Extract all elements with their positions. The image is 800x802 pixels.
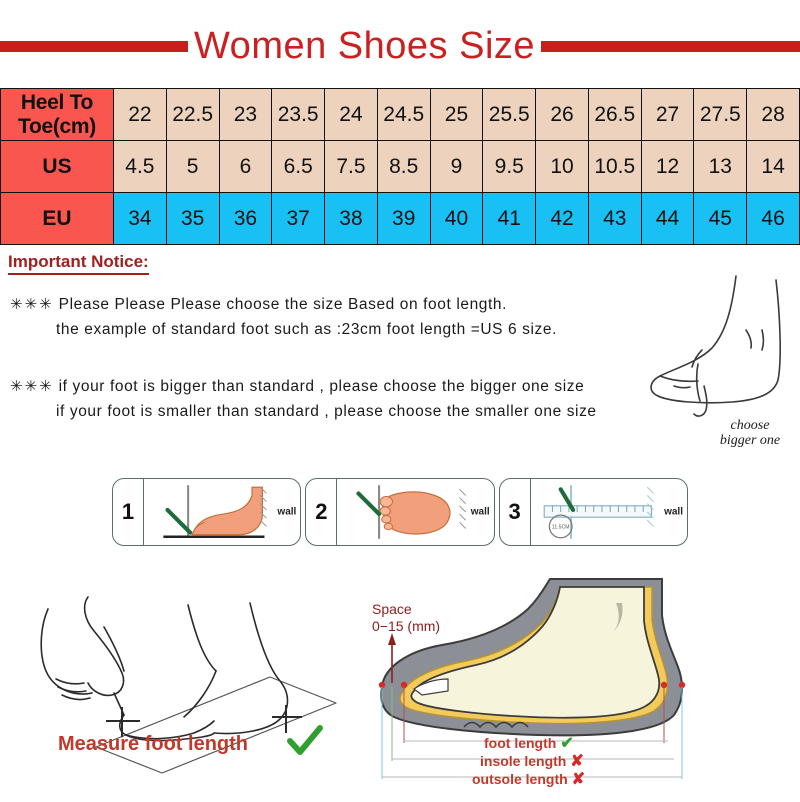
check-icon [286,725,324,759]
cell-value: 26.5 [589,104,641,125]
table-cell: 9.5 [483,141,536,193]
table-cell: 26 [536,89,589,141]
check-icon: ✔ [556,735,573,752]
step-number: 1 [113,479,144,545]
cell-value: 5 [167,156,219,177]
table-cell: 34 [114,193,167,245]
step-3-illustration: 11.5CM wall [531,479,687,545]
wall-label: wall [664,507,683,518]
table-cell: 25.5 [483,89,536,141]
table-cell: 7.5 [325,141,378,193]
cell-value: 41 [483,208,535,229]
measure-foot-panel: Measure foot length [18,575,370,797]
table-cell: 24.5 [377,89,430,141]
cell-value: 14 [747,156,799,177]
step-3: 3 11.5CM [499,478,688,546]
choose-bigger-line2: bigger one [700,433,800,448]
cell-value: 23 [220,104,272,125]
cell-value: 12 [642,156,694,177]
table-cell: 41 [483,193,536,245]
row-header-eu: EU [1,193,114,245]
table-cell: 44 [641,193,694,245]
notice-stars: ✳✳✳ [10,378,54,395]
table-cell: 23 [219,89,272,141]
row-header-us: US [1,141,114,193]
cell-value: 22.5 [167,104,219,125]
table-cell: 43 [588,193,641,245]
legend-label: foot length [484,735,556,751]
table-cell: 45 [694,193,747,245]
table-cell: 13 [694,141,747,193]
table-cell: 22.5 [166,89,219,141]
notice-heading: Important Notice: [8,252,149,275]
wall-label: wall [471,507,490,518]
step-2-illustration: wall [337,479,493,545]
notice-stars: ✳✳✳ [10,296,54,313]
cell-value: 37 [272,208,324,229]
table-cell: 35 [166,193,219,245]
table-cell: 10 [536,141,589,193]
hand-pencil-foot-illustration [18,575,370,797]
cell-value: 9 [431,156,483,177]
ruler-reading: 11.5CM [552,525,570,531]
cell-value: 27.5 [694,104,746,125]
cell-value: 42 [536,208,588,229]
step-number: 3 [500,479,531,545]
cell-value: 6 [220,156,272,177]
step-1: 1 wall [112,478,301,546]
table-cell: 23.5 [272,89,325,141]
table-cell: 22 [114,89,167,141]
table-cell: 27.5 [694,89,747,141]
cross-icon: ✘ [568,771,585,788]
table-row: US 4.5 5 6 6.5 7.5 8.5 9 9.5 10 10.5 12 … [1,141,800,193]
table-cell: 4.5 [114,141,167,193]
notice-line: ✳✳✳ Please Please Please choose the size… [10,292,557,317]
table-cell: 12 [641,141,694,193]
notice-text: the example of standard foot such as :23… [56,321,557,338]
legend-insole-length: insole length✘ [480,751,584,771]
cell-value: 28 [747,104,799,125]
cell-value: 9.5 [483,156,535,177]
space-label-line1: Space [372,601,440,618]
cell-value: 22 [114,104,166,125]
table-cell: 8.5 [377,141,430,193]
table-cell: 6 [219,141,272,193]
page-title: Women Shoes Size [188,27,541,65]
measure-steps: 1 wall 2 [112,478,688,546]
choose-bigger-line1: choose [700,418,800,433]
notice-line: if your foot is smaller than standard , … [10,399,597,424]
table-cell: 40 [430,193,483,245]
cell-value: 46 [747,208,799,229]
table-cell: 42 [536,193,589,245]
cell-value: 44 [642,208,694,229]
cross-icon: ✘ [566,753,583,770]
cell-value: 43 [589,208,641,229]
cell-value: 8.5 [378,156,430,177]
cell-value: 24 [325,104,377,125]
title-rule-right [541,41,800,52]
notice-text: if your foot is bigger than standard , p… [59,378,585,395]
notice-block-1: ✳✳✳ Please Please Please choose the size… [10,292,557,342]
size-conversion-table: Heel To Toe(cm) 22 22.5 23 23.5 24 24.5 … [0,88,800,245]
cell-value: 36 [220,208,272,229]
step-1-illustration: wall [144,479,300,545]
table-cell: 24 [325,89,378,141]
cell-value: 7.5 [325,156,377,177]
table-cell: 26.5 [588,89,641,141]
cell-value: 24.5 [378,104,430,125]
legend-foot-length: foot length✔ [484,733,574,753]
legend-outsole-length: outsole length✘ [472,769,585,789]
notice-line: the example of standard foot such as :23… [10,317,557,342]
step-2: 2 wall [305,478,494,546]
cell-value: 25 [431,104,483,125]
table-cell: 36 [219,193,272,245]
table-cell: 39 [377,193,430,245]
cell-value: 38 [325,208,377,229]
table-row: EU 34 35 36 37 38 39 40 41 42 43 44 45 4… [1,193,800,245]
measure-foot-length-caption: Measure foot length [58,733,248,756]
space-label: Space 0−15 (mm) [372,601,440,635]
cell-value: 6.5 [272,156,324,177]
table-cell: 27 [641,89,694,141]
table-cell: 28 [747,89,800,141]
cell-value: 34 [114,208,166,229]
table-cell: 46 [747,193,800,245]
table-cell: 37 [272,193,325,245]
title-rule-left [0,41,188,52]
page-title-bar: Women Shoes Size [0,20,800,72]
shoe-cross-section-panel: Space 0−15 (mm) foot length✔ insole leng… [368,575,800,797]
cell-value: 4.5 [114,156,166,177]
notice-text: if your foot is smaller than standard , … [56,403,597,420]
cell-value: 35 [167,208,219,229]
table-cell: 38 [325,193,378,245]
table-cell: 10.5 [588,141,641,193]
legend-label: insole length [480,753,566,769]
choose-bigger-caption: choose bigger one [700,418,800,448]
legend-label: outsole length [472,771,568,787]
table-row: Heel To Toe(cm) 22 22.5 23 23.5 24 24.5 … [1,89,800,141]
notice-text: Please Please Please choose the size Bas… [59,296,507,313]
cell-value: 23.5 [272,104,324,125]
cell-value: 10 [536,156,588,177]
table-cell: 5 [166,141,219,193]
step-number: 2 [306,479,337,545]
cell-value: 40 [431,208,483,229]
row-header-heel-to-toe: Heel To Toe(cm) [1,89,114,141]
table-cell: 9 [430,141,483,193]
table-cell: 14 [747,141,800,193]
cell-value: 39 [378,208,430,229]
table-cell: 25 [430,89,483,141]
cell-value: 45 [694,208,746,229]
cell-value: 25.5 [483,104,535,125]
notice-line: ✳✳✳ if your foot is bigger than standard… [10,374,597,399]
space-label-line2: 0−15 (mm) [372,618,440,635]
cell-value: 26 [536,104,588,125]
cell-value: 10.5 [589,156,641,177]
table-cell: 6.5 [272,141,325,193]
notice-block-2: ✳✳✳ if your foot is bigger than standard… [10,374,597,424]
wall-label: wall [277,507,296,518]
cell-value: 27 [642,104,694,125]
cell-value: 13 [694,156,746,177]
